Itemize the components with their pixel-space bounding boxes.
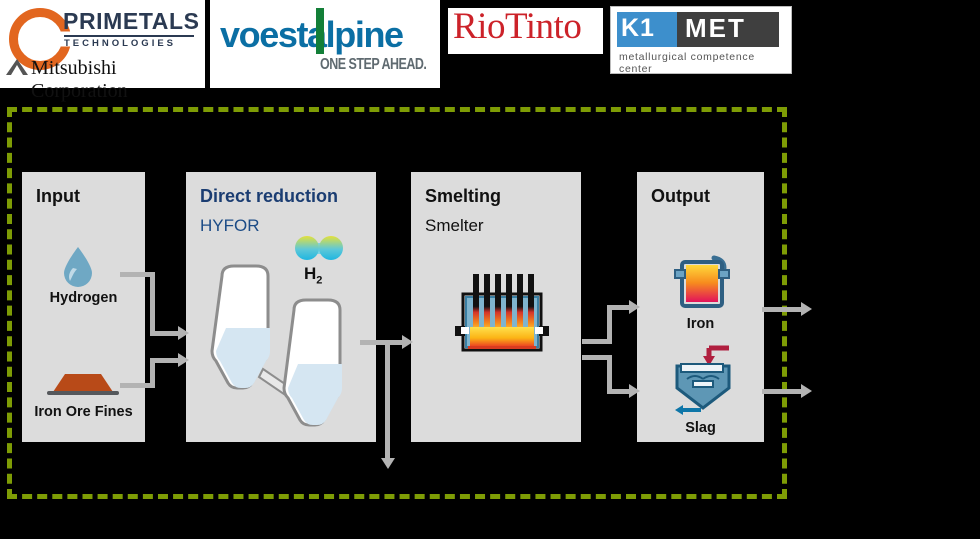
ore-pile-icon xyxy=(43,368,123,398)
arrow-smelt-to-slag-head xyxy=(629,384,640,398)
slag-hopper-icon xyxy=(667,344,739,416)
stage-direct-reduction-title: Direct reduction xyxy=(200,186,338,207)
hydrogen-molecule-icon xyxy=(294,234,344,264)
stage-input-title: Input xyxy=(36,186,80,207)
primetals-subtitle: TECHNOLOGIES xyxy=(64,38,176,49)
output-item-label-slag: Slag xyxy=(637,420,764,436)
arrow-dr-to-smelting-head xyxy=(402,335,413,349)
stage-smelting-subtitle: Smelter xyxy=(425,216,484,236)
arrow-slag-out-seg xyxy=(762,389,804,394)
input-item-label-iron-ore-fines: Iron Ore Fines xyxy=(22,404,145,420)
k1met-subtitle: metallurgical competence center xyxy=(619,51,791,75)
riotinto-wordmark: RioTinto xyxy=(453,5,581,48)
arrow-smelt-to-slag-seg2 xyxy=(607,355,612,393)
voestalpine-logo: voestalpine ONE STEP AHEAD. xyxy=(210,0,440,88)
arrow-ore-head xyxy=(178,353,189,367)
arrow-dr-to-smelting-seg xyxy=(360,340,405,345)
arrow-dr-down-head xyxy=(381,458,395,469)
mitsubishi-diamond-icon xyxy=(6,59,28,75)
primetals-rule xyxy=(64,35,194,37)
voestalpine-tagline: ONE STEP AHEAD. xyxy=(320,55,426,73)
stage-input: Input Hydrogen Iron Ore Fines xyxy=(22,172,145,442)
ladle-icon xyxy=(670,252,734,314)
k1met-k1-text: K1 xyxy=(621,14,655,43)
primetals-logo: PRIMETALS TECHNOLOGIES Mitsubishi Corpor… xyxy=(0,0,205,88)
stage-smelting: Smelting Smelter xyxy=(411,172,581,442)
arrow-slag-out-head xyxy=(801,384,812,398)
stage-output: Output Iron xyxy=(637,172,764,442)
logo-strip: PRIMETALS TECHNOLOGIES Mitsubishi Corpor… xyxy=(0,0,980,95)
arrow-smelt-to-iron-head xyxy=(629,300,640,314)
arrow-dr-down-seg xyxy=(385,340,390,460)
input-item-label-hydrogen: Hydrogen xyxy=(22,290,145,306)
water-droplet-icon xyxy=(61,246,95,288)
stage-direct-reduction: Direct reduction HYFOR H2 xyxy=(186,172,376,442)
mitsubishi-wordmark: Mitsubishi Corporation xyxy=(31,57,205,103)
arrow-hydrogen-seg2 xyxy=(150,272,155,334)
arrow-smelt-to-iron-seg2 xyxy=(607,305,612,344)
stage-smelting-title: Smelting xyxy=(425,186,501,207)
primetals-wordmark: PRIMETALS xyxy=(63,8,200,35)
arrow-ore-seg3 xyxy=(150,358,180,363)
k1met-logo: K1 MET metallurgical competence center xyxy=(610,6,792,74)
arrow-iron-out-head xyxy=(801,302,812,316)
arrow-iron-out-seg xyxy=(762,307,804,312)
reduction-vessels-icon xyxy=(208,264,368,434)
arrow-hydrogen-seg3 xyxy=(150,331,180,336)
stage-output-title: Output xyxy=(651,186,710,207)
k1met-met-text: MET xyxy=(685,13,746,44)
riotinto-logo: RioTinto xyxy=(448,8,603,54)
output-item-label-iron: Iron xyxy=(637,316,764,332)
stage-direct-reduction-subtitle: HYFOR xyxy=(200,216,260,236)
arrow-hydrogen-head xyxy=(178,326,189,340)
electric-smelter-icon xyxy=(449,272,555,372)
voestalpine-green-bar xyxy=(316,8,324,54)
voestalpine-wordmark: voestalpine xyxy=(220,14,403,56)
